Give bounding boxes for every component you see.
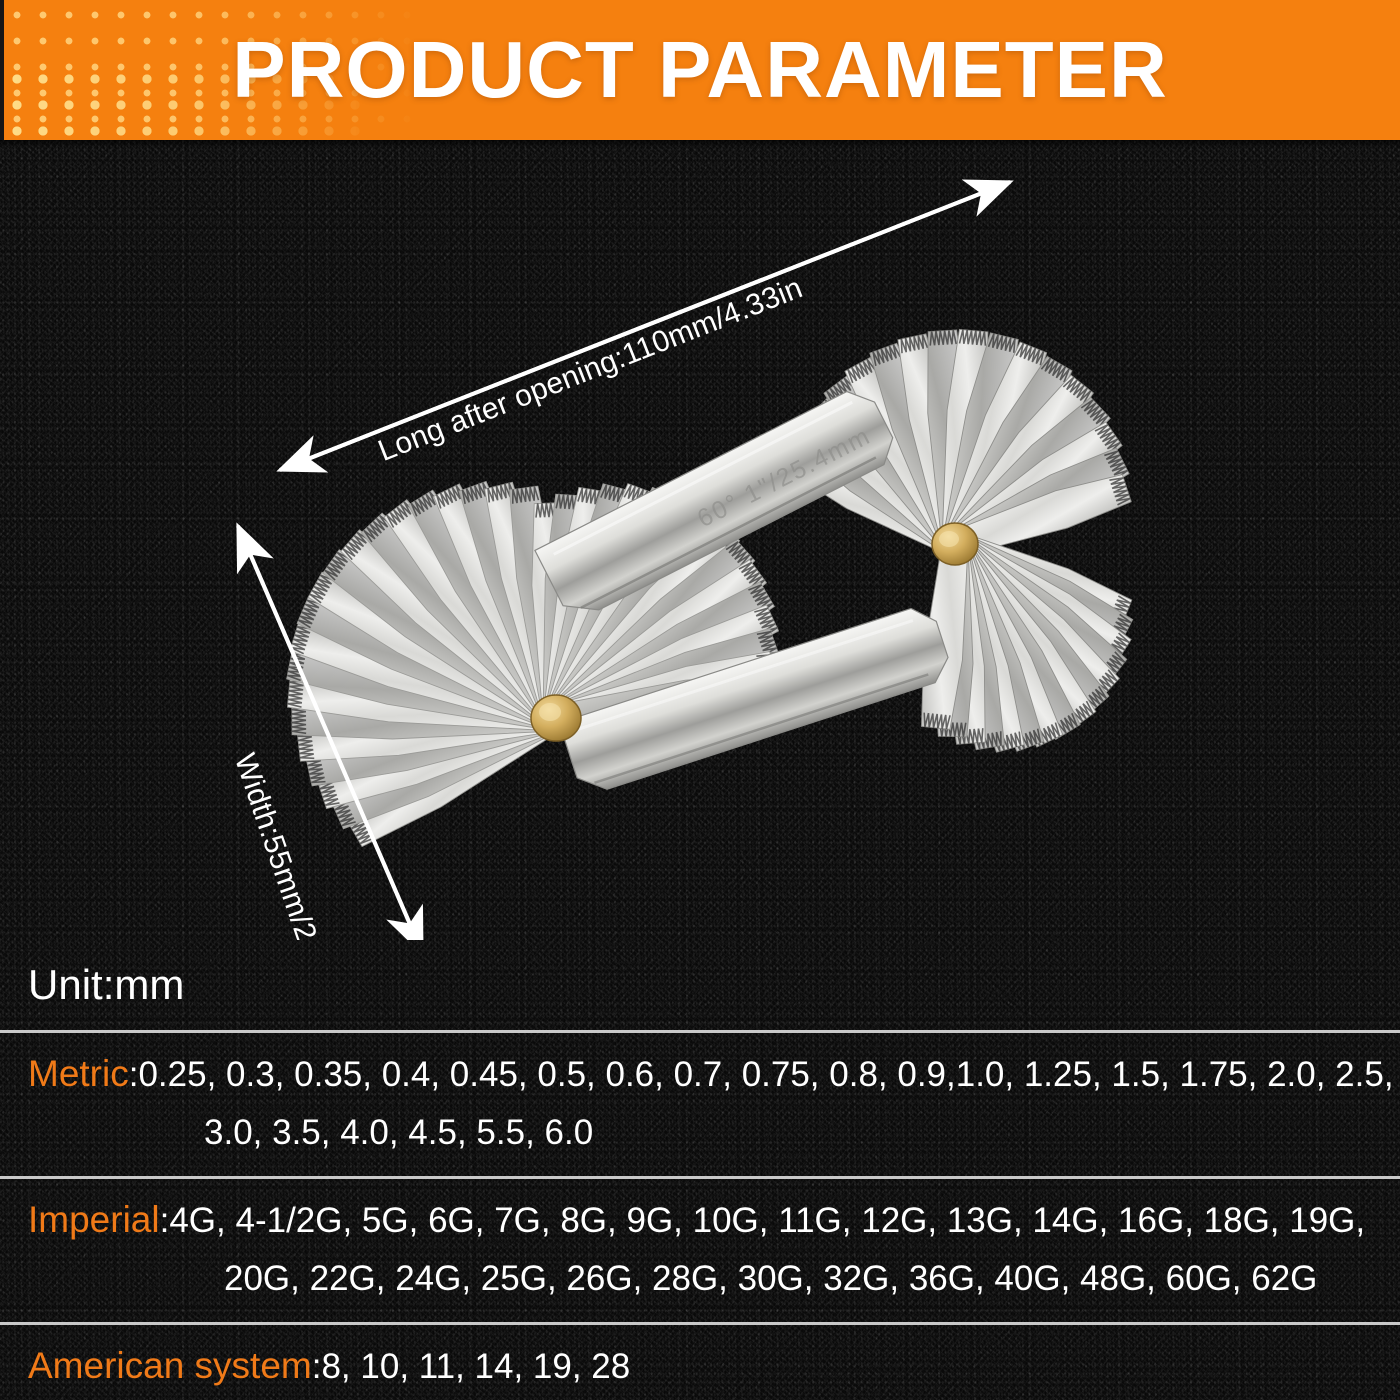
spec-values: 3.0, 3.5, 4.0, 4.5, 5.5, 6.0 [204, 1113, 593, 1152]
spec-line: 20G, 22G, 24G, 25G, 26G, 28G, 30G, 32G, … [28, 1250, 1378, 1308]
spec-line: 3.0, 3.5, 4.0, 4.5, 5.5, 6.0 [28, 1104, 1378, 1162]
spec-row-american: American system:8, 10, 11, 14, 19, 28 [0, 1325, 1400, 1400]
spec-values: 4G, 4-1/2G, 5G, 6G, 7G, 8G, 9G, 10G, 11G… [169, 1201, 1365, 1240]
spec-key-american: American system [28, 1345, 312, 1386]
page-title: PRODUCT PARAMETER [0, 0, 1400, 140]
product-parameter-infographic: PRODUCT PARAMETER [0, 0, 1400, 1400]
spec-colon: : [160, 1201, 170, 1240]
spec-colon: : [129, 1055, 139, 1094]
length-arrow-head-left [280, 182, 1010, 470]
spec-values: 0.25, 0.3, 0.35, 0.4, 0.45, 0.5, 0.6, 0.… [138, 1055, 1393, 1094]
unit-label: Unit:mm [28, 961, 184, 1009]
unit-row: Unit:mm [0, 940, 1400, 1030]
header-banner: PRODUCT PARAMETER [0, 0, 1400, 140]
spec-line: Metric:0.25, 0.3, 0.35, 0.4, 0.45, 0.5, … [28, 1045, 1378, 1104]
width-arrow-head-top [238, 526, 422, 940]
spec-row-metric: Metric:0.25, 0.3, 0.35, 0.4, 0.45, 0.5, … [0, 1033, 1400, 1176]
dimension-arrows [0, 140, 1400, 940]
product-photo: 60° 1"/25.4mm [0, 140, 1400, 940]
spec-values: 20G, 22G, 24G, 25G, 26G, 28G, 30G, 32G, … [224, 1259, 1317, 1298]
spec-key-imperial: Imperial [28, 1199, 160, 1240]
specification-table: Unit:mm Metric:0.25, 0.3, 0.35, 0.4, 0.4… [0, 940, 1400, 1400]
spec-line: Imperial:4G, 4-1/2G, 5G, 6G, 7G, 8G, 9G,… [28, 1191, 1378, 1250]
spec-row-imperial: Imperial:4G, 4-1/2G, 5G, 6G, 7G, 8G, 9G,… [0, 1179, 1400, 1322]
spec-colon: : [312, 1347, 322, 1386]
spec-key-metric: Metric [28, 1053, 129, 1094]
spec-line: American system:8, 10, 11, 14, 19, 28 [28, 1337, 1378, 1396]
spec-values: 8, 10, 11, 14, 19, 28 [321, 1347, 630, 1386]
